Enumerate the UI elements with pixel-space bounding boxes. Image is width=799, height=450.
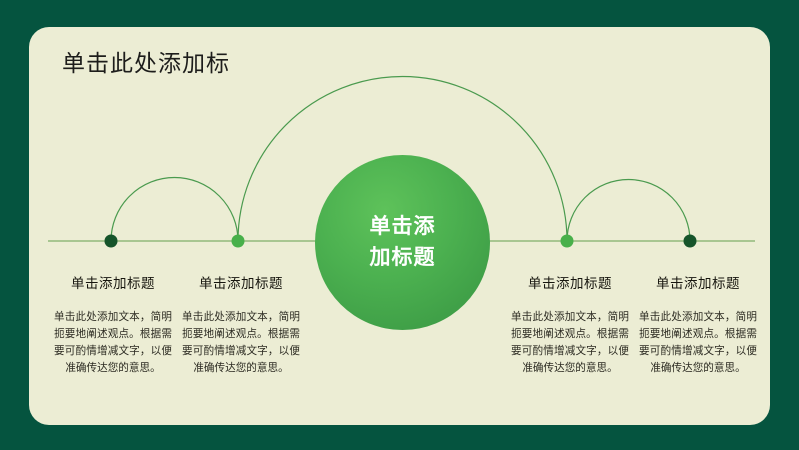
- column-2-heading[interactable]: 单击添加标题: [176, 272, 306, 292]
- node-dot-2[interactable]: [232, 235, 245, 248]
- center-circle-label-line2: 加标题: [370, 243, 436, 273]
- column-1: 单击添加标题 单击此处添加文本，简明扼要地阐述观点。根据需要可酌情增减文字，以便…: [48, 272, 178, 378]
- column-1-body[interactable]: 单击此处添加文本，简明扼要地阐述观点。根据需要可酌情增减文字，以便准确传达您的意…: [48, 309, 178, 378]
- column-2: 单击添加标题 单击此处添加文本，简明扼要地阐述观点。根据需要可酌情增减文字，以便…: [176, 272, 306, 378]
- center-circle[interactable]: 单击添 加标题: [315, 155, 490, 330]
- column-2-body[interactable]: 单击此处添加文本，简明扼要地阐述观点。根据需要可酌情增减文字，以便准确传达您的意…: [176, 309, 306, 378]
- column-3-heading[interactable]: 单击添加标题: [505, 272, 635, 292]
- node-dot-1[interactable]: [105, 235, 118, 248]
- column-4-heading[interactable]: 单击添加标题: [633, 272, 763, 292]
- column-3-body[interactable]: 单击此处添加文本，简明扼要地阐述观点。根据需要可酌情增减文字，以便准确传达您的意…: [505, 309, 635, 378]
- slide-canvas: 单击添 加标题 单击此处添加标 单击添加标题 单击此处添加文本，简明扼要地阐述观…: [0, 0, 799, 450]
- column-1-heading[interactable]: 单击添加标题: [48, 272, 178, 292]
- node-dot-4[interactable]: [684, 235, 697, 248]
- node-dot-3[interactable]: [561, 235, 574, 248]
- center-circle-label-line1: 单击添: [370, 212, 436, 242]
- page-title[interactable]: 单击此处添加标: [62, 44, 230, 78]
- column-3: 单击添加标题 单击此处添加文本，简明扼要地阐述观点。根据需要可酌情增减文字，以便…: [505, 272, 635, 378]
- column-4: 单击添加标题 单击此处添加文本，简明扼要地阐述观点。根据需要可酌情增减文字，以便…: [633, 272, 763, 378]
- column-4-body[interactable]: 单击此处添加文本，简明扼要地阐述观点。根据需要可酌情增减文字，以便准确传达您的意…: [633, 309, 763, 378]
